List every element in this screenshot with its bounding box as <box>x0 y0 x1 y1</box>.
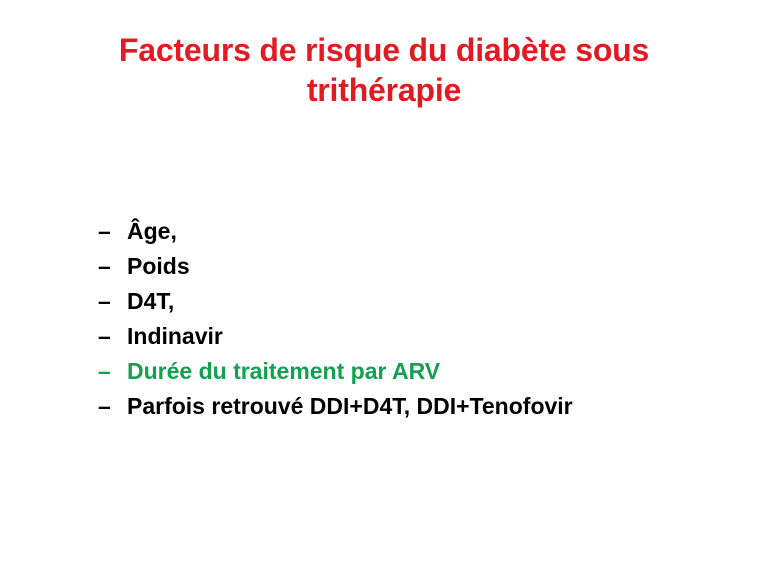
list-item-label: Indinavir <box>127 319 223 354</box>
list-item: – Indinavir <box>98 319 698 354</box>
list-item-label: Poids <box>127 249 190 284</box>
page-title: Facteurs de risque du diabète sous trith… <box>60 30 708 110</box>
bullet-dash-icon: – <box>98 284 127 319</box>
list-item-label: Durée du traitement par ARV <box>127 354 440 389</box>
bullet-dash-icon: – <box>98 249 127 284</box>
slide-canvas: Facteurs de risque du diabète sous trith… <box>0 0 768 576</box>
risk-factors-list: – Âge, – Poids – D4T, – Indinavir – Duré… <box>98 214 698 424</box>
list-item: – Poids <box>98 249 698 284</box>
page-title-line-1: Facteurs de risque du diabète sous <box>60 30 708 70</box>
list-item-highlighted: – Durée du traitement par ARV <box>98 354 698 389</box>
bullet-dash-icon: – <box>98 389 127 424</box>
list-item: – D4T, <box>98 284 698 319</box>
bullet-dash-icon: – <box>98 319 127 354</box>
bullet-dash-icon: – <box>98 214 127 249</box>
list-item: – Âge, <box>98 214 698 249</box>
list-item: – Parfois retrouvé DDI+D4T, DDI+Tenofovi… <box>98 389 698 424</box>
list-item-label: D4T, <box>127 284 174 319</box>
page-title-line-2: trithérapie <box>60 70 708 110</box>
list-item-label: Parfois retrouvé DDI+D4T, DDI+Tenofovir <box>127 389 573 424</box>
list-item-label: Âge, <box>127 214 177 249</box>
bullet-dash-icon: – <box>98 354 127 389</box>
